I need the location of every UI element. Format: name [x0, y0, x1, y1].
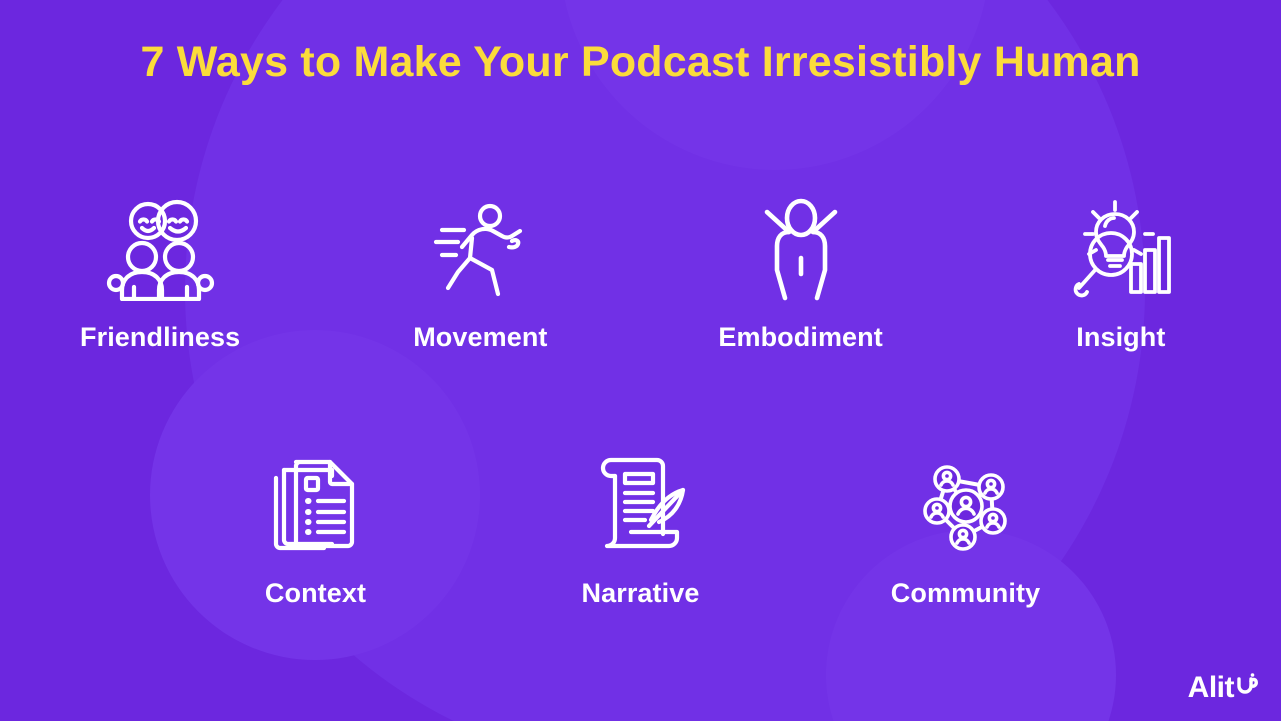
- feature-row-top: Friendliness Movement: [0, 196, 1281, 351]
- feature-label: Narrative: [582, 580, 700, 607]
- background-arc-shape: [185, 0, 1145, 721]
- feature-item-narrative: Narrative: [478, 452, 803, 607]
- lightbulb-magnifier-chart-icon: [1069, 196, 1173, 304]
- two-people-smiley-icon: [104, 196, 216, 304]
- scroll-quill-icon: [591, 452, 691, 560]
- people-network-icon: [917, 452, 1015, 560]
- feature-label: Insight: [1076, 324, 1165, 351]
- feature-label: Community: [891, 580, 1040, 607]
- feature-item-context: Context: [153, 452, 478, 607]
- feature-label: Embodiment: [718, 324, 883, 351]
- slide-canvas: 7 Ways to Make Your Podcast Irresistibly…: [0, 0, 1281, 721]
- feature-item-movement: Movement: [320, 196, 640, 351]
- background-decoration: [0, 0, 1281, 721]
- feature-item-embodiment: Embodiment: [641, 196, 961, 351]
- feature-label: Friendliness: [80, 324, 240, 351]
- u-bird-mark-icon: [1235, 671, 1259, 702]
- alitu-logo-text: Alit: [1188, 673, 1234, 703]
- running-person-icon: [430, 196, 530, 304]
- feature-row-bottom: Context Narrative: [0, 452, 1281, 607]
- feature-item-insight: Insight: [961, 196, 1281, 351]
- slide-title: 7 Ways to Make Your Podcast Irresistibly…: [0, 38, 1281, 87]
- stacked-documents-list-icon: [270, 452, 362, 560]
- feature-label: Movement: [413, 324, 547, 351]
- feature-item-friendliness: Friendliness: [0, 196, 320, 351]
- feature-label: Context: [265, 580, 366, 607]
- feature-item-community: Community: [803, 452, 1128, 607]
- alitu-logo[interactable]: Alit: [1188, 671, 1259, 703]
- person-arms-raised-icon: [755, 196, 847, 304]
